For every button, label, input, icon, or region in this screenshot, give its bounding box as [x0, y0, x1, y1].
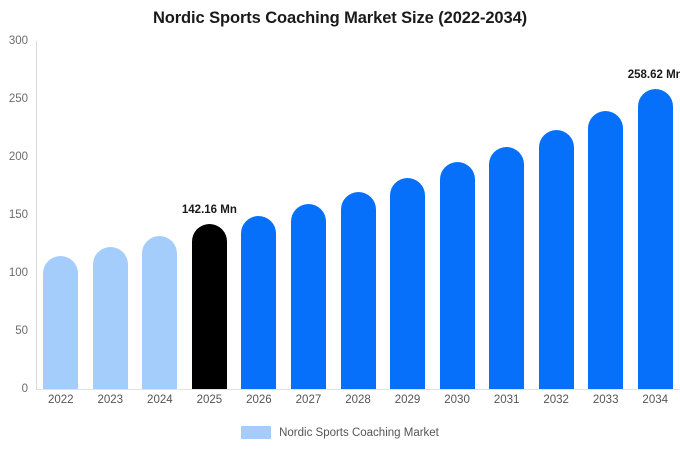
bar-2032[interactable]: [539, 130, 574, 389]
x-axis-tick-label-2023: 2023: [98, 394, 124, 406]
y-axis-tick-label: 50: [0, 325, 28, 337]
x-axis-line: [36, 389, 680, 390]
bar-chart: Nordic Sports Coaching Market Size (2022…: [0, 0, 680, 450]
legend-label-nordic-sports-coaching-market: Nordic Sports Coaching Market: [279, 427, 439, 439]
x-axis-tick-label-2024: 2024: [147, 394, 173, 406]
x-axis-tick-label-2030: 2030: [444, 394, 470, 406]
x-axis-tick-label-2032: 2032: [543, 394, 569, 406]
bar-2030[interactable]: [440, 162, 475, 389]
bar-2033[interactable]: [588, 111, 623, 389]
x-axis-tick-label-2033: 2033: [593, 394, 619, 406]
y-axis-tick-label: 0: [0, 383, 28, 395]
x-axis-tick-label-2025: 2025: [197, 394, 223, 406]
y-axis-tick-label: 150: [0, 209, 28, 221]
x-axis-tick-label-2034: 2034: [642, 394, 668, 406]
bar-2028[interactable]: [341, 192, 376, 389]
y-axis-tick-label: 200: [0, 151, 28, 163]
plot-area: 050100150200250300 142.16 Mn258.62 Mn: [36, 41, 680, 389]
bar-2027[interactable]: [291, 204, 326, 389]
y-axis-tick-label: 100: [0, 267, 28, 279]
chart-title: Nordic Sports Coaching Market Size (2022…: [0, 9, 680, 28]
legend-swatch-nordic-sports-coaching-market: [241, 426, 271, 439]
data-label-2034: 258.62 Mn: [628, 69, 680, 81]
x-axis-tick-label-2028: 2028: [345, 394, 371, 406]
bar-2029[interactable]: [390, 178, 425, 389]
bar-2026[interactable]: [241, 216, 276, 389]
x-axis-tick-label-2027: 2027: [296, 394, 322, 406]
bar-2025[interactable]: [192, 224, 227, 389]
bar-2034[interactable]: [638, 89, 673, 389]
y-axis-tick-label: 250: [0, 93, 28, 105]
x-axis-tick-label-2029: 2029: [395, 394, 421, 406]
bar-2031[interactable]: [489, 147, 524, 389]
chart-legend: Nordic Sports Coaching Market: [0, 426, 680, 439]
x-axis-tick-label-2022: 2022: [48, 394, 74, 406]
x-axis-tick-label-2031: 2031: [494, 394, 520, 406]
bar-2024[interactable]: [142, 236, 177, 389]
bar-2022[interactable]: [43, 256, 78, 389]
data-label-2025: 142.16 Mn: [182, 204, 237, 216]
bar-2023[interactable]: [93, 247, 128, 389]
y-axis-tick-label: 300: [0, 35, 28, 47]
x-axis-tick-label-2026: 2026: [246, 394, 272, 406]
